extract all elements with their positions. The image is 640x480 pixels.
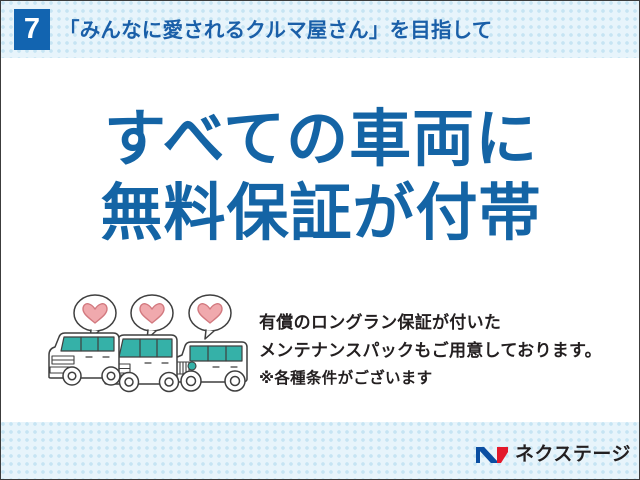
- headline-line-2: 無料保証が付帯: [1, 179, 640, 249]
- body-copy-line-3: ※各種条件がございます: [259, 365, 602, 393]
- body-copy: 有償のロングラン保証が付いた メンテナンスパックもご用意しております。 ※各種条…: [259, 309, 602, 393]
- car-kei-van: [49, 333, 120, 385]
- car-suv: [168, 342, 247, 391]
- section-number-badge: 7: [14, 9, 50, 50]
- speech-bubble-3: [189, 295, 231, 339]
- nexstage-n-mark-icon: [475, 443, 509, 467]
- headline-line-1: すべての車両に: [1, 105, 640, 175]
- speech-bubble-2: [131, 295, 173, 339]
- header-title: 「みんなに愛されるクルマ屋さん」を目指して: [59, 16, 492, 46]
- body-copy-line-2: メンテナンスパックもご用意しております。: [259, 337, 602, 365]
- cars-illustration: [45, 293, 255, 401]
- brand-logo: ネクステージ: [475, 443, 631, 467]
- brand-name: ネクステージ: [515, 443, 631, 467]
- body-copy-line-1: 有償のロングラン保証が付いた: [259, 309, 602, 337]
- cars-illustration-svg: [45, 293, 255, 401]
- promo-banner: 7 「みんなに愛されるクルマ屋さん」を目指して すべての車両に 無料保証が付帯: [0, 0, 640, 480]
